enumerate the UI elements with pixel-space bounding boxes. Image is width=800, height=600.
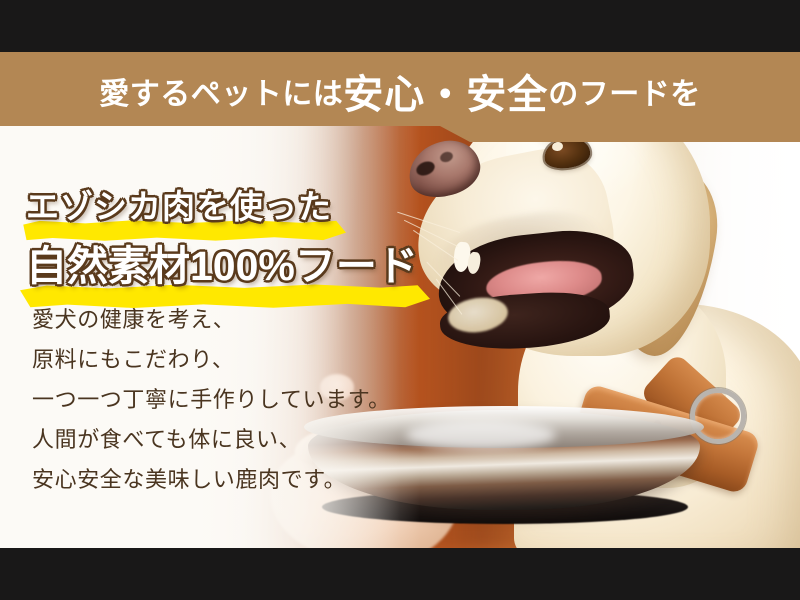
body-line: 原料にもこだわり、 [32, 342, 235, 374]
body-line: 愛犬の健康を考え、 [32, 302, 235, 334]
subheading-line-1: エゾシカ肉を使った [26, 180, 332, 228]
promo-banner-image: 愛するペットには安心・安全のフードを エゾシカ肉を使った 自然素材100%フード… [0, 0, 800, 600]
body-line: 人間が食べても体に良い、 [32, 422, 301, 454]
overlay-copy: エゾシカ肉を使った 自然素材100%フード 愛犬の健康を考え、 原料にもこだわり… [0, 52, 800, 548]
top-letterbox-bar [0, 0, 800, 52]
body-line: 一つ一つ丁寧に手作りしています。 [32, 382, 391, 414]
body-line: 安心安全な美味しい鹿肉です。 [32, 462, 346, 494]
subheading-line-2: 自然素材100%フード [26, 232, 418, 292]
bottom-letterbox-bar [0, 548, 800, 600]
